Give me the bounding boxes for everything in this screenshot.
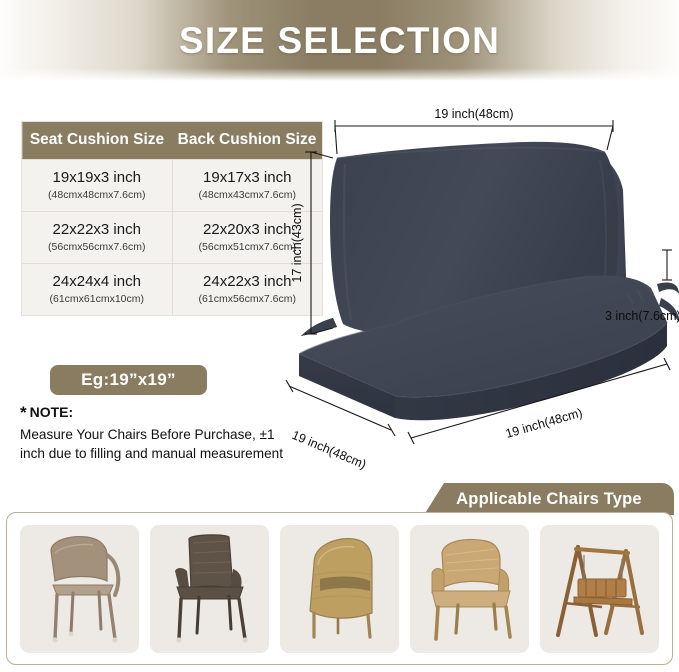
seat-size-cell: 22x22x3 inch (56cmx56cmx7.6cm) — [22, 212, 172, 263]
cushion-dimension-diagram: 19 inch(48cm) 17 inch(43cm) 3 inch(7.6cm… — [275, 108, 679, 476]
note-block: *NOTE: Measure Your Chairs Before Purcha… — [20, 403, 295, 463]
woven-rattan-armchair-icon — [414, 529, 524, 649]
back-cushion-width-label: 19 inch(48cm) — [434, 108, 513, 121]
column-header-seat-cushion: Seat Cushion Size — [22, 122, 172, 159]
seat-size-cell: 19x19x3 inch (48cmx48cmx7.6cm) — [22, 160, 172, 211]
applicable-chairs-tab-label: Applicable Chairs Type — [456, 490, 642, 509]
seat-size-cm: (61cmx61cmx10cm) — [26, 292, 168, 306]
seat-size-inch: 22x22x3 inch — [26, 220, 168, 239]
seat-size-cell: 24x24x4 inch (61cmx61cmx10cm) — [22, 264, 172, 315]
note-title-label: NOTE: — [30, 404, 74, 420]
asterisk-icon: * — [20, 403, 27, 422]
back-cushion-height-label: 17 inch(43cm) — [290, 203, 304, 282]
seat-size-inch: 19x19x3 inch — [26, 168, 168, 187]
chair-card-wicker-tub-barrel-chair[interactable] — [280, 525, 399, 653]
round-back-rattan-stacking-chair-icon — [25, 529, 135, 649]
seat-size-inch: 24x24x4 inch — [26, 272, 168, 291]
dimension-back-height — [305, 152, 333, 334]
header-banner: SIZE SELECTION — [0, 0, 679, 82]
wooden-porch-swing-icon — [544, 529, 654, 649]
cushion-thickness-label: 3 inch(7.6cm) — [605, 309, 679, 323]
chair-card-woven-rattan-armchair[interactable] — [410, 525, 529, 653]
example-size-badge: Eg:19”x19” — [50, 365, 207, 395]
note-body: Measure Your Chairs Before Purchase, ±1 … — [20, 425, 295, 463]
applicable-chairs-panel — [6, 512, 673, 665]
chair-card-round-back-rattan-stacking-chair[interactable] — [20, 525, 139, 653]
dimension-thickness — [662, 250, 672, 280]
page-title: SIZE SELECTION — [179, 20, 500, 62]
chair-thumbnail-row — [7, 513, 672, 664]
seat-size-cm: (48cmx48cmx7.6cm) — [26, 188, 168, 202]
wicker-tub-barrel-chair-icon — [284, 529, 394, 649]
size-selection-infographic: SIZE SELECTION Seat Cushion Size Back Cu… — [0, 0, 679, 672]
seat-cushion-front-label: 19 inch(48cm) — [290, 428, 368, 472]
applicable-chairs-tab: Applicable Chairs Type — [424, 483, 674, 515]
chair-card-high-back-dark-wicker-armchair[interactable] — [150, 525, 269, 653]
seat-size-cm: (56cmx56cmx7.6cm) — [26, 240, 168, 254]
note-title: *NOTE: — [20, 403, 295, 422]
chair-card-wooden-porch-swing[interactable] — [540, 525, 659, 653]
high-back-dark-wicker-armchair-icon — [155, 529, 265, 649]
example-size-label: Eg:19”x19” — [81, 370, 176, 390]
seat-cushion-depth-label: 19 inch(48cm) — [504, 406, 584, 441]
